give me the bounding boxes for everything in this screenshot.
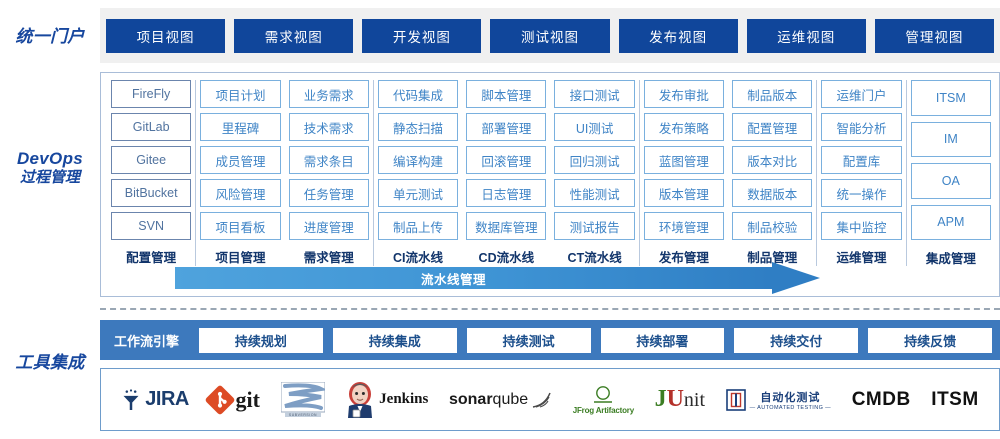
junit-label: JUnit bbox=[655, 386, 705, 413]
devops-cell[interactable]: 测试报告 bbox=[554, 212, 634, 240]
jira-label: JIRA bbox=[145, 388, 189, 411]
devops-cell[interactable]: 技术需求 bbox=[289, 113, 369, 141]
devops-process-panel: FireFlyGitLabGiteeBitBucketSVN配置管理项目计划里程… bbox=[100, 72, 1000, 297]
devops-column-title: CI流水线 bbox=[378, 247, 458, 266]
automated-testing-label-cn: 自动化测试 bbox=[760, 389, 820, 405]
portal-button-3[interactable]: 开发视图 bbox=[362, 19, 481, 53]
devops-column-4: 代码集成静态扫描编译构建单元测试制品上传CI流水线 bbox=[374, 80, 462, 266]
devops-cell[interactable]: 性能测试 bbox=[554, 179, 634, 207]
devops-cell[interactable]: 业务需求 bbox=[289, 80, 369, 108]
jfrog-artifactory-label: JFrog Artifactory bbox=[573, 406, 634, 415]
rail-label-tools: 工具集成 bbox=[0, 352, 100, 373]
logo-automated-testing: 自动化测试 — AUTOMATED TESTING — bbox=[726, 377, 831, 423]
junit-label-rest: nit bbox=[684, 389, 705, 411]
devops-cell[interactable]: 单元测试 bbox=[378, 179, 458, 207]
automated-testing-label-en: — AUTOMATED TESTING — bbox=[750, 405, 831, 411]
devops-column-1: FireFlyGitLabGiteeBitBucketSVN配置管理 bbox=[107, 80, 196, 266]
devops-column-title: CD流水线 bbox=[466, 247, 546, 266]
devops-cell[interactable]: 静态扫描 bbox=[378, 113, 458, 141]
jira-icon bbox=[121, 389, 141, 411]
devops-cell[interactable]: 蓝图管理 bbox=[644, 146, 724, 174]
sonarqube-label-light: qube bbox=[493, 391, 529, 408]
devops-cell[interactable]: 运维门户 bbox=[821, 80, 901, 108]
devops-cell[interactable]: 发布审批 bbox=[644, 80, 724, 108]
devops-column-title: 集成管理 bbox=[911, 248, 991, 267]
devops-capability-grid: FireFlyGitLabGiteeBitBucketSVN配置管理项目计划里程… bbox=[107, 80, 995, 267]
logo-cmdb: CMDB bbox=[852, 377, 911, 423]
devops-cell[interactable]: 部署管理 bbox=[466, 113, 546, 141]
subversion-icon: SUBVERSION bbox=[281, 382, 325, 418]
devops-column-8: 制品版本配置管理版本对比数据版本制品校验制品管理 bbox=[728, 80, 817, 266]
workflow-engine-band: 工作流引擎 持续规划持续集成持续测试持续部署持续交付持续反馈 bbox=[100, 320, 1000, 360]
logo-junit: JUnit bbox=[655, 377, 705, 423]
devops-column-2: 项目计划里程碑成员管理风险管理项目看板项目管理 bbox=[196, 80, 284, 266]
devops-cell[interactable]: 进度管理 bbox=[289, 212, 369, 240]
portal-button-5[interactable]: 发布视图 bbox=[619, 19, 738, 53]
automated-testing-text: 自动化测试 — AUTOMATED TESTING — bbox=[750, 389, 831, 411]
junit-label-j: J bbox=[655, 386, 667, 412]
devops-column-title: 需求管理 bbox=[289, 247, 369, 266]
portal-button-1[interactable]: 项目视图 bbox=[106, 19, 225, 53]
rail-devops-line2: 过程管理 bbox=[0, 169, 100, 188]
rail-tools-text: 工具集成 bbox=[0, 352, 100, 373]
logo-jira: JIRA bbox=[121, 377, 189, 423]
devops-cell[interactable]: 成员管理 bbox=[200, 146, 280, 174]
devops-column-title: 项目管理 bbox=[200, 247, 280, 266]
logo-git: git bbox=[209, 377, 259, 423]
portal-button-7[interactable]: 管理视图 bbox=[875, 19, 994, 53]
pipeline-arrow-head bbox=[772, 262, 820, 294]
section-divider bbox=[100, 308, 1000, 310]
devops-cell[interactable]: 回归测试 bbox=[554, 146, 634, 174]
devops-platform-diagram: 统一门户 DevOps 过程管理 工具集成 项目视图需求视图开发视图测试视图发布… bbox=[0, 0, 1000, 439]
pipeline-arrow-body: 流水线管理 bbox=[175, 267, 772, 289]
svg-text:SUBVERSION: SUBVERSION bbox=[288, 413, 316, 417]
devops-cell[interactable]: 需求条目 bbox=[289, 146, 369, 174]
devops-cell[interactable]: 脚本管理 bbox=[466, 80, 546, 108]
devops-cell[interactable]: 数据库管理 bbox=[466, 212, 546, 240]
sonarqube-icon bbox=[532, 391, 552, 409]
jenkins-icon bbox=[345, 381, 375, 419]
devops-cell[interactable]: 配置库 bbox=[821, 146, 901, 174]
git-icon bbox=[205, 384, 236, 415]
devops-cell[interactable]: SVN bbox=[111, 212, 191, 240]
devops-cell[interactable]: 配置管理 bbox=[732, 113, 812, 141]
devops-cell[interactable]: 制品校验 bbox=[732, 212, 812, 240]
automated-testing-icon bbox=[726, 389, 746, 411]
portal-button-2[interactable]: 需求视图 bbox=[234, 19, 353, 53]
devops-cell[interactable]: 代码集成 bbox=[378, 80, 458, 108]
git-glyph bbox=[209, 389, 231, 411]
devops-cell[interactable]: FireFly bbox=[111, 80, 191, 108]
devops-cell[interactable]: OA bbox=[911, 163, 991, 199]
devops-cell[interactable]: UI测试 bbox=[554, 113, 634, 141]
devops-cell[interactable]: APM bbox=[911, 205, 991, 241]
devops-cell[interactable]: 任务管理 bbox=[289, 179, 369, 207]
devops-column-title: CT流水线 bbox=[554, 247, 634, 266]
workflow-engine-label: 工作流引擎 bbox=[108, 331, 189, 350]
devops-column-5: 脚本管理部署管理回滚管理日志管理数据库管理CD流水线 bbox=[462, 80, 550, 266]
jfrog-artifactory-icon bbox=[592, 385, 614, 405]
logo-jenkins: Jenkins bbox=[345, 377, 428, 423]
devops-cell[interactable]: 版本管理 bbox=[644, 179, 724, 207]
devops-column-title: 运维管理 bbox=[821, 247, 901, 266]
workflow-stage-2[interactable]: 持续集成 bbox=[333, 328, 457, 353]
jenkins-label: Jenkins bbox=[379, 391, 428, 408]
devops-cell[interactable]: 制品版本 bbox=[732, 80, 812, 108]
devops-column-7: 发布审批发布策略蓝图管理版本管理环境管理发布管理 bbox=[640, 80, 728, 266]
workflow-stage-1[interactable]: 持续规划 bbox=[199, 328, 323, 353]
workflow-stage-list: 持续规划持续集成持续测试持续部署持续交付持续反馈 bbox=[199, 328, 992, 353]
workflow-stage-5[interactable]: 持续交付 bbox=[734, 328, 858, 353]
devops-cell[interactable]: 制品上传 bbox=[378, 212, 458, 240]
workflow-stage-4[interactable]: 持续部署 bbox=[601, 328, 725, 353]
devops-cell[interactable]: 数据版本 bbox=[732, 179, 812, 207]
junit-label-u: U bbox=[667, 386, 684, 412]
devops-cell[interactable]: 统一操作 bbox=[821, 179, 901, 207]
rail-devops-line1: DevOps bbox=[0, 148, 100, 169]
devops-column-title: 配置管理 bbox=[111, 247, 191, 266]
rail-label-portal: 统一门户 bbox=[0, 26, 100, 47]
devops-cell[interactable]: 回滚管理 bbox=[466, 146, 546, 174]
devops-column-9: 运维门户智能分析配置库统一操作集中监控运维管理 bbox=[817, 80, 906, 266]
devops-cell[interactable]: ITSM bbox=[911, 80, 991, 116]
logo-jfrog-artifactory: JFrog Artifactory bbox=[573, 377, 634, 423]
cmdb-label: CMDB bbox=[852, 389, 911, 411]
devops-cell[interactable]: IM bbox=[911, 122, 991, 158]
portal-button-6[interactable]: 运维视图 bbox=[747, 19, 866, 53]
pipeline-arrow: 流水线管理 bbox=[175, 267, 820, 289]
logo-subversion: SUBVERSION bbox=[281, 377, 325, 423]
devops-column-6: 接口测试UI测试回归测试性能测试测试报告CT流水线 bbox=[550, 80, 639, 266]
devops-cell[interactable]: 接口测试 bbox=[554, 80, 634, 108]
devops-column-3: 业务需求技术需求需求条目任务管理进度管理需求管理 bbox=[285, 80, 374, 266]
devops-cell[interactable]: 版本对比 bbox=[732, 146, 812, 174]
devops-cell[interactable]: 发布策略 bbox=[644, 113, 724, 141]
devops-cell[interactable]: BitBucket bbox=[111, 179, 191, 207]
devops-cell[interactable]: 日志管理 bbox=[466, 179, 546, 207]
devops-cell[interactable]: 项目计划 bbox=[200, 80, 280, 108]
tool-logo-strip: JIRA git SUBVERSION bbox=[100, 368, 1000, 431]
devops-cell[interactable]: 智能分析 bbox=[821, 113, 901, 141]
workflow-stage-3[interactable]: 持续测试 bbox=[467, 328, 591, 353]
rail-label-devops: DevOps 过程管理 bbox=[0, 148, 100, 188]
devops-cell[interactable]: GitLab bbox=[111, 113, 191, 141]
devops-cell[interactable]: 编译构建 bbox=[378, 146, 458, 174]
itsm-label: ITSM bbox=[931, 389, 978, 411]
pipeline-arrow-label: 流水线管理 bbox=[421, 269, 526, 288]
logo-itsm: ITSM bbox=[931, 377, 978, 423]
portal-button-band: 项目视图需求视图开发视图测试视图发布视图运维视图管理视图 bbox=[100, 8, 1000, 63]
sonarqube-label-bold: sonar bbox=[449, 391, 493, 408]
devops-cell[interactable]: Gitee bbox=[111, 146, 191, 174]
devops-cell[interactable]: 项目看板 bbox=[200, 212, 280, 240]
devops-column-10: ITSMIMOAAPM集成管理 bbox=[907, 80, 995, 267]
devops-cell[interactable]: 集中监控 bbox=[821, 212, 901, 240]
devops-cell[interactable]: 环境管理 bbox=[644, 212, 724, 240]
devops-column-title: 发布管理 bbox=[644, 247, 724, 266]
devops-cell[interactable]: 风险管理 bbox=[200, 179, 280, 207]
workflow-stage-6[interactable]: 持续反馈 bbox=[868, 328, 992, 353]
portal-button-4[interactable]: 测试视图 bbox=[490, 19, 609, 53]
devops-cell[interactable]: 里程碑 bbox=[200, 113, 280, 141]
git-label: git bbox=[235, 387, 259, 413]
sonarqube-label: sonarqube bbox=[449, 391, 528, 409]
logo-sonarqube: sonarqube bbox=[449, 377, 552, 423]
rail-portal-text: 统一门户 bbox=[0, 26, 100, 47]
